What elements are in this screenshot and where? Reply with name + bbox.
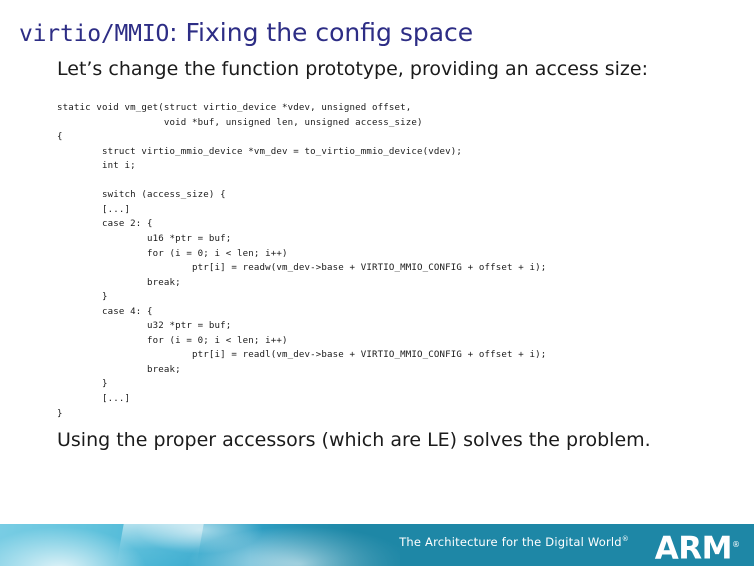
code-line: [...] (57, 392, 657, 407)
page-title-sans: : Fixing the config space (169, 18, 473, 47)
code-line: int i; (57, 159, 657, 174)
arm-logo-text: ARM (655, 530, 732, 566)
code-line: { (57, 130, 657, 145)
code-line: ptr[i] = readl(vm_dev->base + VIRTIO_MMI… (57, 348, 657, 363)
code-line: break; (57, 363, 657, 378)
intro-paragraph: Let’s change the function prototype, pro… (57, 57, 648, 81)
code-line: u32 *ptr = buf; (57, 319, 657, 334)
code-line: for (i = 0; i < len; i++) (57, 247, 657, 262)
code-line: static void vm_get(struct virtio_device … (57, 101, 657, 116)
code-line: void *buf, unsigned len, unsigned access… (57, 116, 657, 131)
code-line: } (57, 290, 657, 305)
code-line: struct virtio_mmio_device *vm_dev = to_v… (57, 145, 657, 160)
code-line: case 2: { (57, 217, 657, 232)
registered-mark-icon: ® (622, 535, 629, 543)
page-title-mono: virtio/MMIO (19, 21, 169, 47)
registered-mark-icon: ® (732, 540, 740, 549)
code-line: u16 *ptr = buf; (57, 232, 657, 247)
conclusion-paragraph: Using the proper accessors (which are LE… (57, 428, 651, 452)
code-line (57, 174, 657, 189)
code-line: } (57, 377, 657, 392)
code-line: ptr[i] = readw(vm_dev->base + VIRTIO_MMI… (57, 261, 657, 276)
slide: virtio/MMIO: Fixing the config space Let… (0, 0, 754, 566)
code-block: static void vm_get(struct virtio_device … (57, 101, 657, 421)
arm-logo: ARM® (655, 526, 740, 566)
code-line: case 4: { (57, 305, 657, 320)
code-line: } (57, 407, 657, 422)
footer-tagline-text: The Architecture for the Digital World (399, 535, 622, 549)
code-line: switch (access_size) { (57, 188, 657, 203)
code-line: [...] (57, 203, 657, 218)
footer-bar: The Architecture for the Digital World® … (0, 524, 754, 566)
footer-tagline: The Architecture for the Digital World® (399, 535, 629, 549)
code-line: break; (57, 276, 657, 291)
page-title: virtio/MMIO: Fixing the config space (19, 18, 735, 49)
code-line: for (i = 0; i < len; i++) (57, 334, 657, 349)
